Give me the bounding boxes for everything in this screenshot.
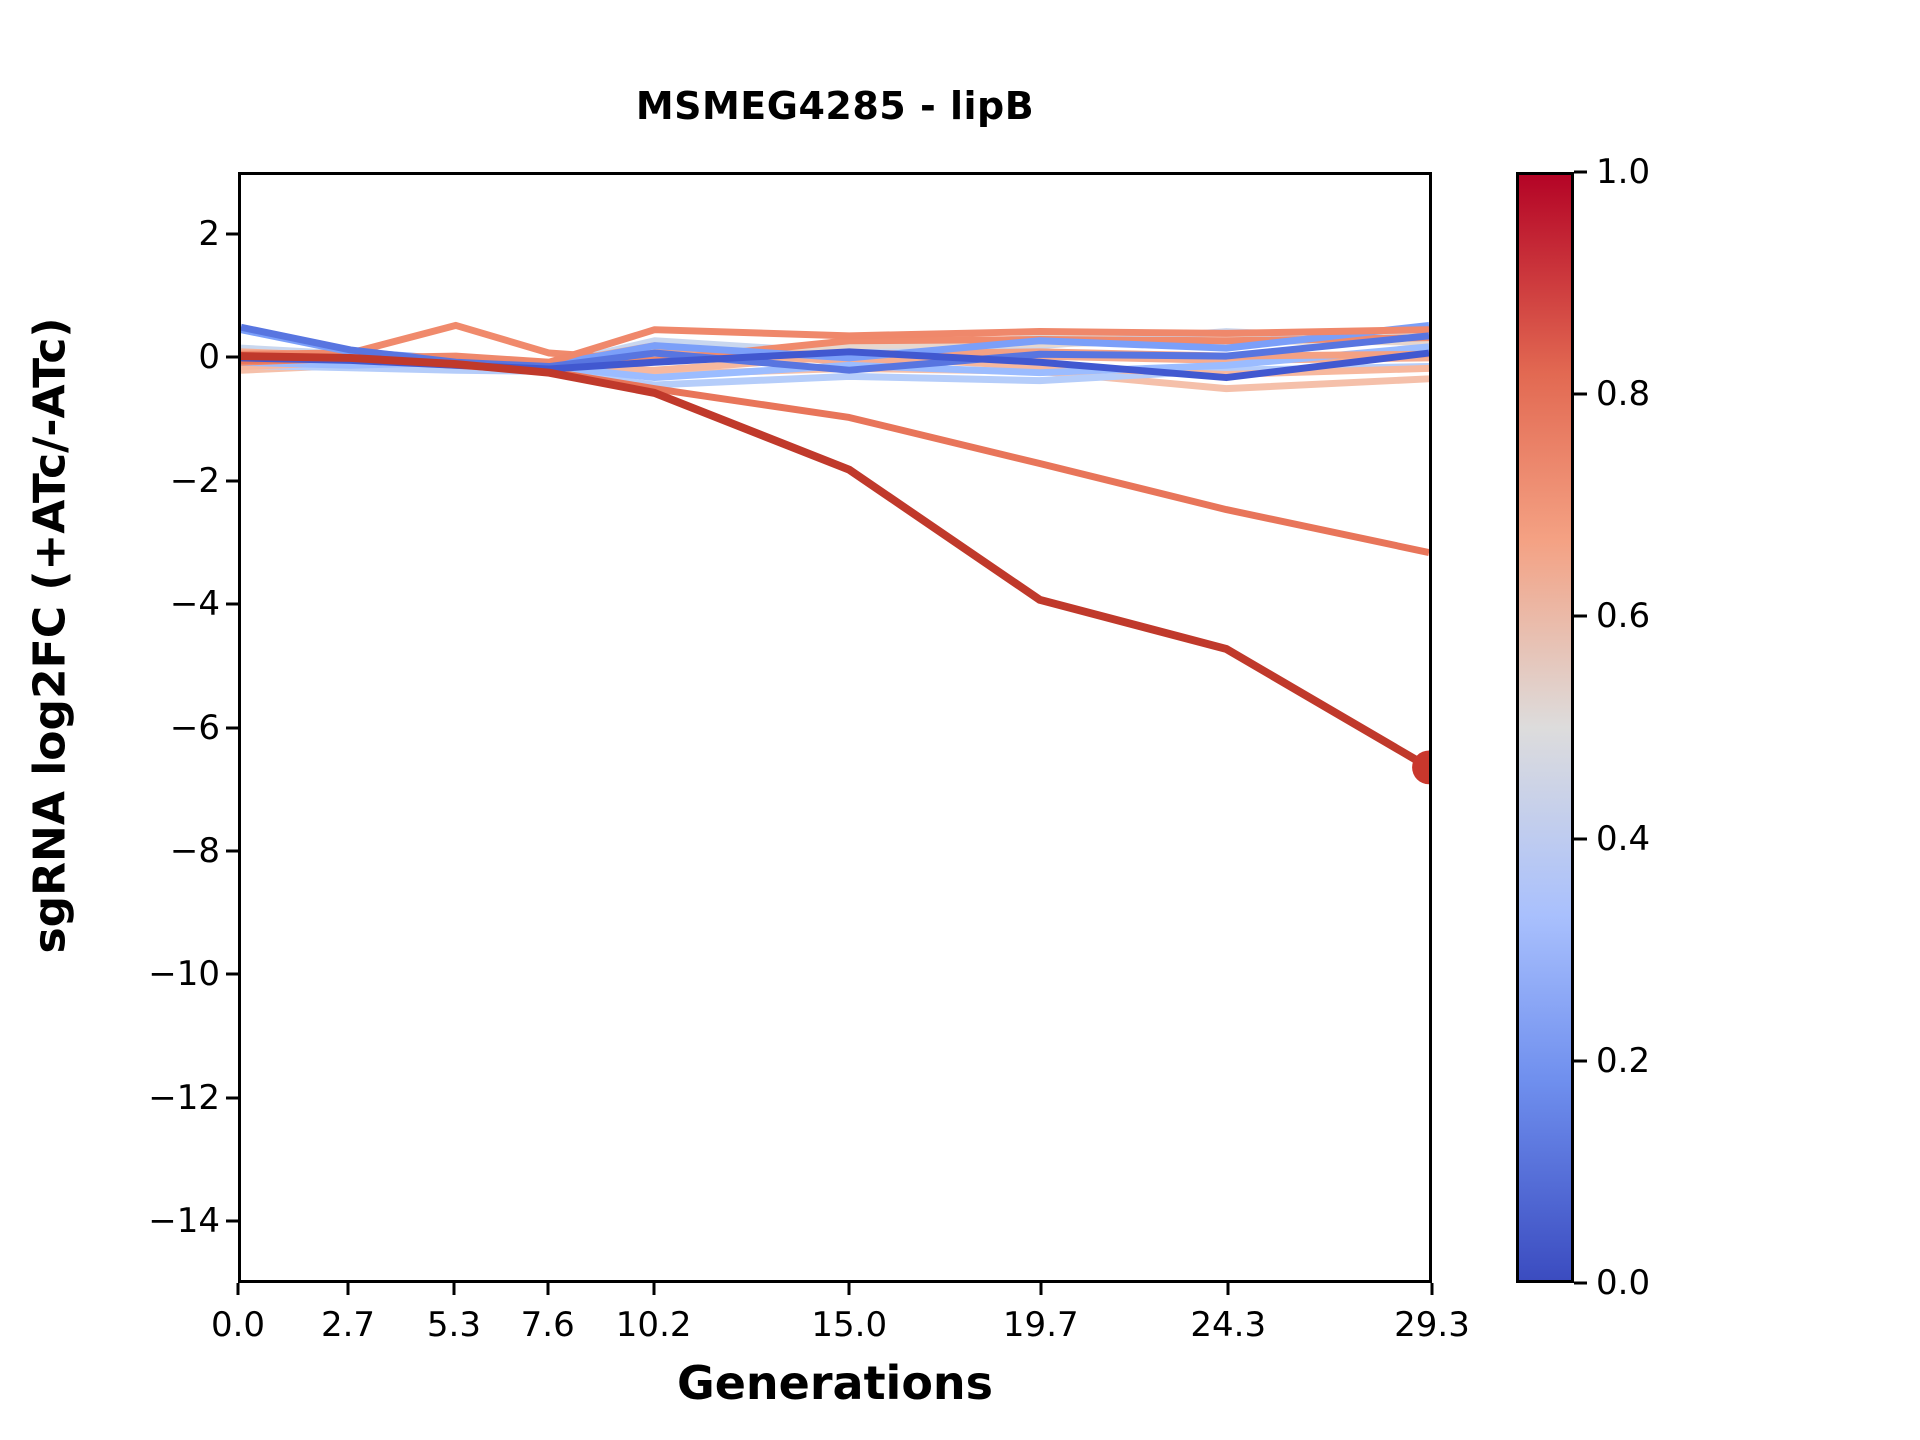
y-tick-mark [226, 232, 238, 235]
y-tick-label: −8 [170, 831, 220, 871]
x-tick-mark [1039, 1283, 1042, 1295]
x-tick-label: 5.3 [427, 1305, 481, 1345]
y-tick-label: −12 [148, 1078, 220, 1118]
colorbar [1516, 172, 1574, 1283]
y-axis-label: sgRNA log2FC (+ATc/-ATc) [25, 66, 76, 1206]
colorbar-gradient [1519, 175, 1571, 1280]
colorbar-tick-label: 0.6 [1596, 596, 1650, 636]
colorbar-tick-label: 0.4 [1596, 819, 1650, 859]
colorbar-tick-label: 0.2 [1596, 1041, 1650, 1081]
x-tick-label: 10.2 [616, 1305, 692, 1345]
y-tick-label: 2 [198, 214, 220, 254]
x-tick-mark [1227, 1283, 1230, 1295]
colorbar-tick-mark [1574, 615, 1587, 618]
colorbar-tick-mark [1574, 837, 1587, 840]
colorbar-tick-mark [1574, 171, 1587, 174]
chart-canvas: MSMEG4285 - lipB sgRNA log2FC (+ATc/-ATc… [0, 0, 1920, 1440]
y-tick-label: −10 [148, 954, 220, 994]
x-tick-label: 19.7 [1003, 1305, 1079, 1345]
y-tick-label: −2 [170, 461, 220, 501]
colorbar-tick-label: 1.0 [1596, 152, 1650, 192]
x-tick-mark [237, 1283, 240, 1295]
y-tick-mark [226, 356, 238, 359]
y-tick-mark [226, 603, 238, 606]
y-tick-label: −4 [170, 584, 220, 624]
y-tick-label: −14 [148, 1201, 220, 1241]
x-tick-label: 7.6 [521, 1305, 575, 1345]
colorbar-tick-label: 0.8 [1596, 374, 1650, 414]
x-tick-label: 0.0 [211, 1305, 265, 1345]
x-tick-mark [452, 1283, 455, 1295]
y-tick-mark [226, 1096, 238, 1099]
chart-title: MSMEG4285 - lipB [238, 84, 1432, 128]
x-tick-mark [1431, 1283, 1434, 1295]
colorbar-tick-labels: 0.00.20.40.60.81.0 [1574, 172, 1754, 1283]
colorbar-tick-mark [1574, 393, 1587, 396]
x-tick-label: 24.3 [1190, 1305, 1266, 1345]
x-tick-mark [652, 1283, 655, 1295]
x-axis-label: Generations [238, 1356, 1432, 1410]
y-tick-label: 0 [198, 337, 220, 377]
x-tick-mark [347, 1283, 350, 1295]
series-lines [241, 175, 1429, 1280]
y-tick-mark [226, 1220, 238, 1223]
plot-area [238, 172, 1432, 1283]
x-tick-mark [546, 1283, 549, 1295]
x-tick-mark [848, 1283, 851, 1295]
x-tick-label: 29.3 [1394, 1305, 1470, 1345]
y-tick-mark [226, 479, 238, 482]
y-tick-label: −6 [170, 708, 220, 748]
y-tick-mark [226, 849, 238, 852]
colorbar-tick-label: 0.0 [1596, 1263, 1650, 1303]
colorbar-tick-mark [1574, 1282, 1587, 1285]
x-tick-label: 15.0 [811, 1305, 887, 1345]
y-axis-tick-labels: 20−2−4−6−8−10−12−14 [80, 172, 220, 1283]
colorbar-tick-mark [1574, 1059, 1587, 1062]
y-tick-mark [226, 726, 238, 729]
x-tick-label: 2.7 [321, 1305, 375, 1345]
y-tick-mark [226, 973, 238, 976]
